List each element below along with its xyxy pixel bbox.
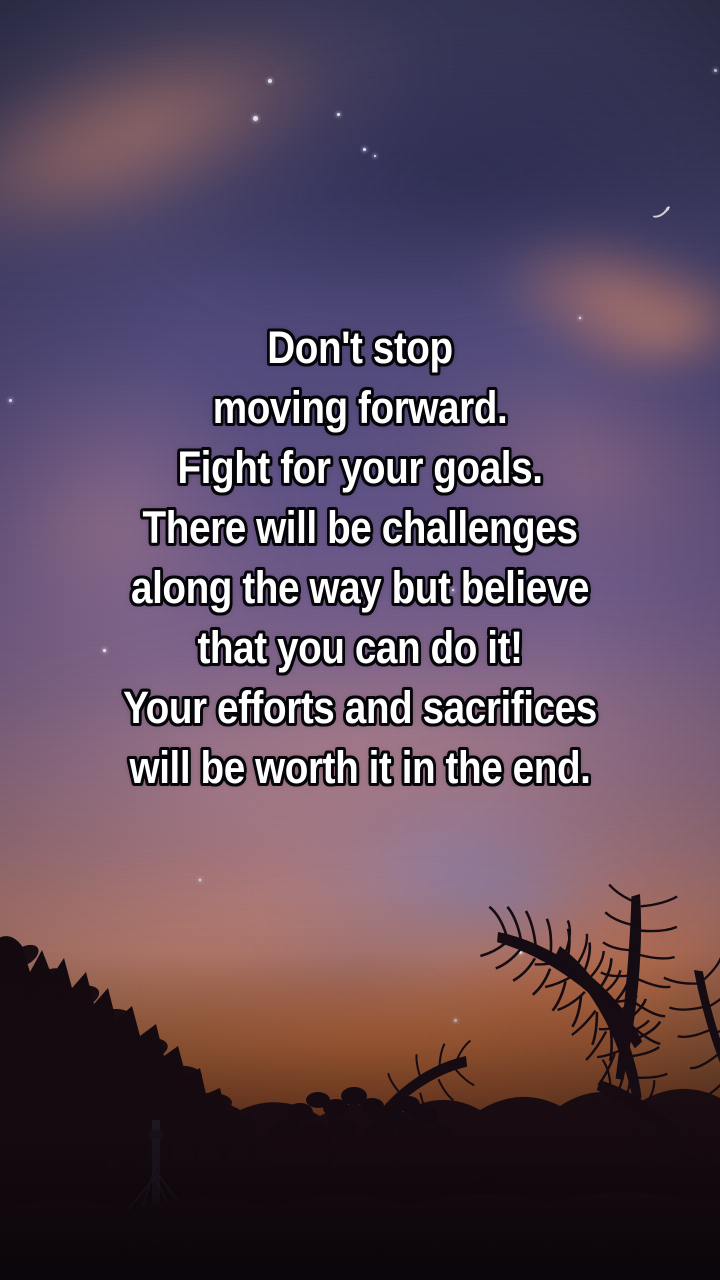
star-5-icon — [374, 155, 376, 157]
quote-line-5: along the way but believe — [62, 558, 657, 618]
quote-line-1: Don't stop — [62, 318, 657, 378]
quote-line-3: Fight for your goals. — [62, 438, 657, 498]
quote-line-4: There will be challenges — [62, 498, 657, 558]
star-2-icon — [253, 116, 258, 121]
wallpaper-canvas: Don't stop moving forward. Fight for you… — [0, 0, 720, 1280]
quote-line-8: will be worth it in the end. — [62, 738, 657, 798]
star-6-icon — [714, 69, 717, 72]
quote-line-2: moving forward. — [62, 378, 657, 438]
quote-line-6: that you can do it! — [62, 618, 657, 678]
star-3-icon — [337, 113, 340, 116]
star-4-icon — [363, 148, 366, 151]
foliage-silhouette-layer — [0, 880, 720, 1280]
star-1-icon — [268, 79, 272, 83]
foreground-dark-mass — [0, 1192, 720, 1280]
quote-text-block: Don't stop moving forward. Fight for you… — [0, 318, 720, 798]
quote-line-7: Your efforts and sacrifices — [62, 678, 657, 738]
crescent-moon-icon — [648, 198, 678, 228]
